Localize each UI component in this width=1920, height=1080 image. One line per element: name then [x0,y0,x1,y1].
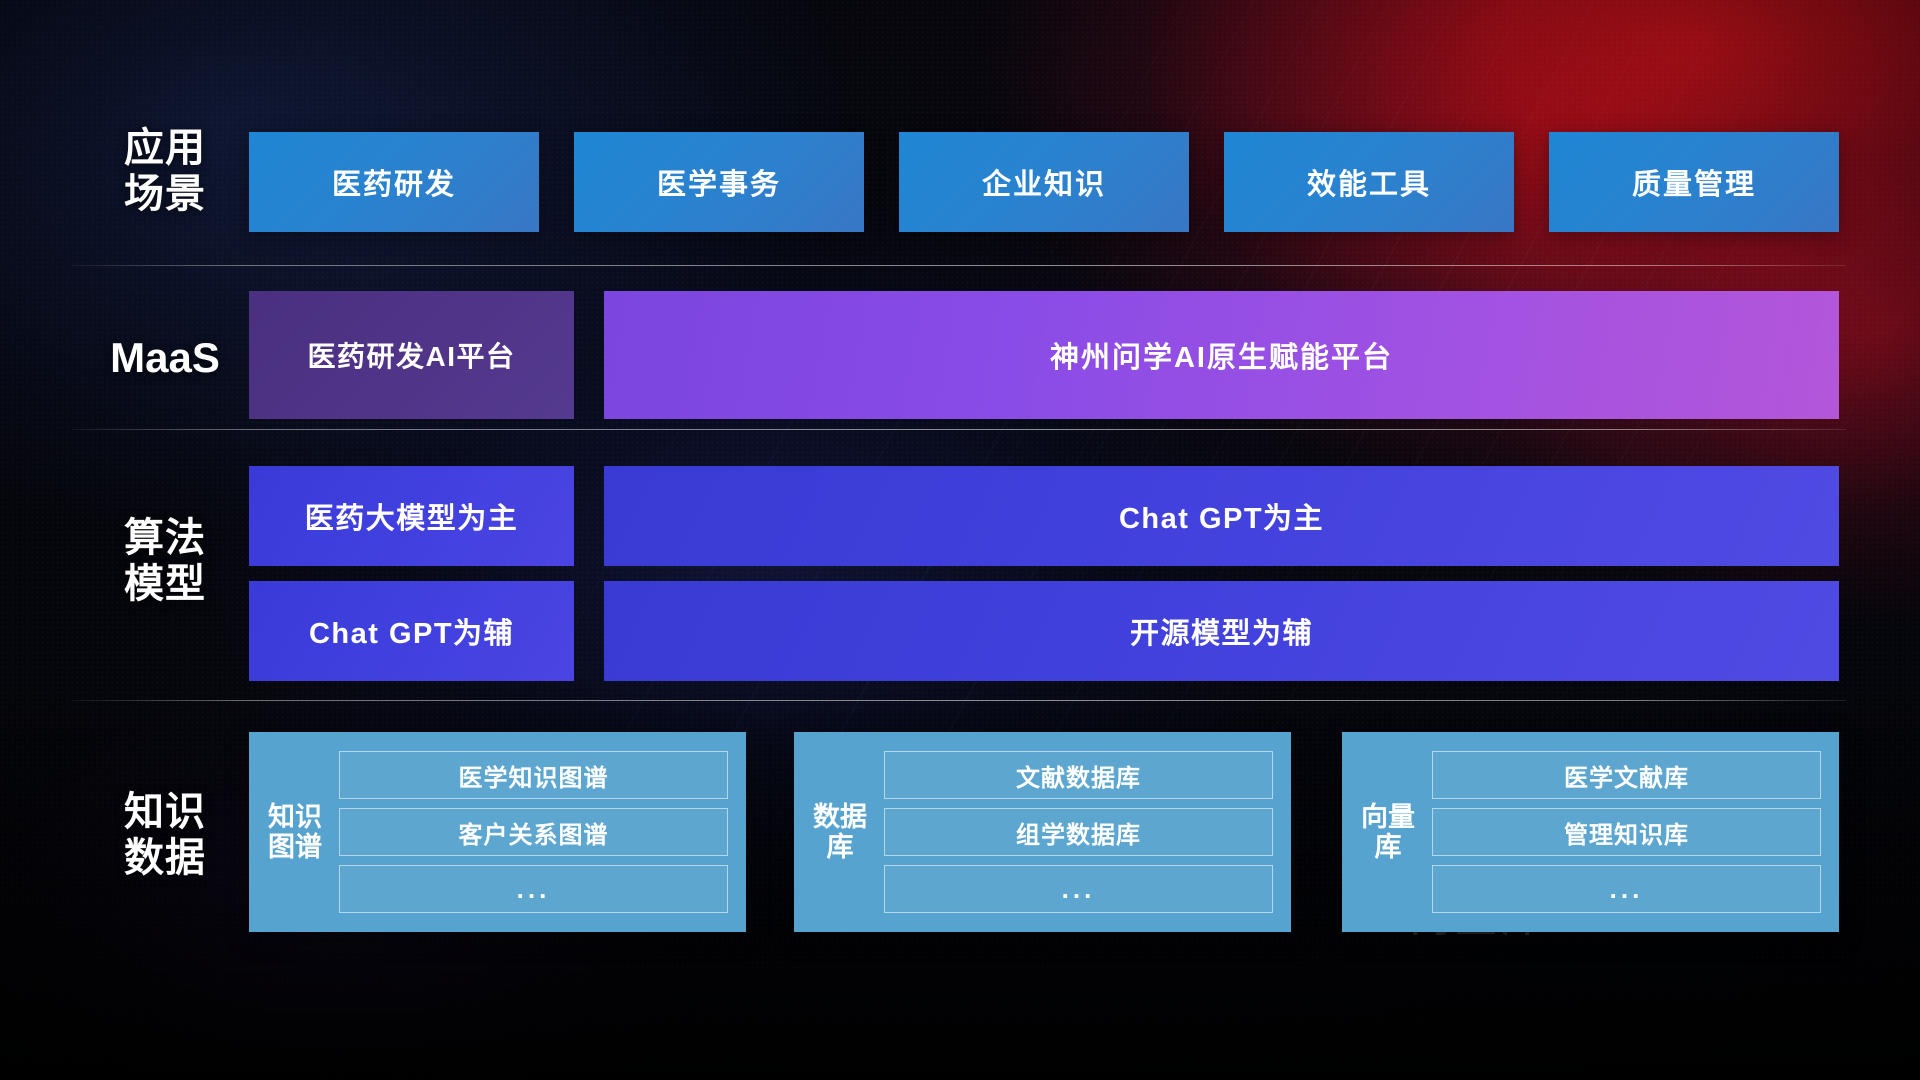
app-box-1[interactable]: 医学事务 [574,132,864,232]
maas-right-box[interactable]: 神州问学AI原生赋能平台 [604,291,1839,419]
maas-left-box-label: 医药研发AI平台 [307,335,515,375]
knowledge-panel-0[interactable]: 知识图谱 医学知识图谱 客户关系图谱 ... [249,732,746,932]
row-label-algorithm-line1: 算法 [90,516,240,562]
app-box-0[interactable]: 医药研发 [249,132,539,232]
algo-right-box-1-label: 开源模型为辅 [1130,610,1313,652]
knowledge-panel-1-item-2[interactable]: ... [884,865,1273,913]
row-label-algorithm: 算法 模型 [90,516,240,607]
row-label-maas: MaaS [90,334,240,382]
knowledge-panel-2[interactable]: 向量库 医学文献库 管理知识库 ... [1342,732,1839,932]
app-box-4-label: 质量管理 [1632,161,1756,203]
algo-left-box-1-label: Chat GPT为辅 [309,610,514,652]
knowledge-panel-0-item-2[interactable]: ... [339,865,728,913]
app-box-0-label: 医药研发 [332,161,456,203]
divider-after-algorithm [72,700,1846,701]
row-label-knowledge-line1: 知识 [90,790,240,836]
knowledge-panel-1-items: 文献数据库 组学数据库 ... [876,751,1291,913]
slide-canvas: 应用 场景 医药研发 医学事务 企业知识 效能工具 质量管理 MaaS 医药研发… [0,0,1920,1080]
knowledge-panel-2-title: 向量库 [1342,802,1424,862]
knowledge-panel-1-item-0[interactable]: 文献数据库 [884,751,1273,799]
knowledge-panel-0-items: 医学知识图谱 客户关系图谱 ... [331,751,746,913]
app-box-3[interactable]: 效能工具 [1224,132,1514,232]
knowledge-panel-2-item-1[interactable]: 管理知识库 [1432,808,1821,856]
row-label-application-line1: 应用 [90,126,240,172]
knowledge-panel-0-item-1[interactable]: 客户关系图谱 [339,808,728,856]
algo-left-box-0[interactable]: 医药大模型为主 [249,466,574,566]
algo-left-box-0-label: 医药大模型为主 [305,495,519,537]
row-label-application-line2: 场景 [90,172,240,218]
knowledge-panel-2-item-0[interactable]: 医学文献库 [1432,751,1821,799]
knowledge-panel-2-items: 医学文献库 管理知识库 ... [1424,751,1839,913]
app-box-2-label: 企业知识 [982,161,1106,203]
maas-right-box-label: 神州问学AI原生赋能平台 [1050,334,1393,376]
knowledge-panel-1[interactable]: 数据库 文献数据库 组学数据库 ... [794,732,1291,932]
app-box-4[interactable]: 质量管理 [1549,132,1839,232]
divider-after-application [72,265,1846,266]
algo-left-box-1[interactable]: Chat GPT为辅 [249,581,574,681]
row-label-application: 应用 场景 [90,126,240,217]
app-box-2[interactable]: 企业知识 [899,132,1189,232]
row-label-maas-text: MaaS [90,334,240,382]
knowledge-panel-2-item-2[interactable]: ... [1432,865,1821,913]
row-label-knowledge: 知识 数据 [90,790,240,881]
maas-left-box[interactable]: 医药研发AI平台 [249,291,574,419]
row-label-algorithm-line2: 模型 [90,562,240,608]
knowledge-panel-1-item-1[interactable]: 组学数据库 [884,808,1273,856]
divider-after-maas [72,429,1846,430]
algo-right-box-0[interactable]: Chat GPT为主 [604,466,1839,566]
algo-right-box-0-label: Chat GPT为主 [1119,495,1324,537]
knowledge-panel-1-title: 数据库 [794,802,876,862]
row-label-knowledge-line2: 数据 [90,836,240,882]
knowledge-panel-0-item-0[interactable]: 医学知识图谱 [339,751,728,799]
app-box-1-label: 医学事务 [657,161,781,203]
knowledge-panel-0-title: 知识图谱 [249,802,331,862]
app-box-3-label: 效能工具 [1307,161,1431,203]
algo-right-box-1[interactable]: 开源模型为辅 [604,581,1839,681]
